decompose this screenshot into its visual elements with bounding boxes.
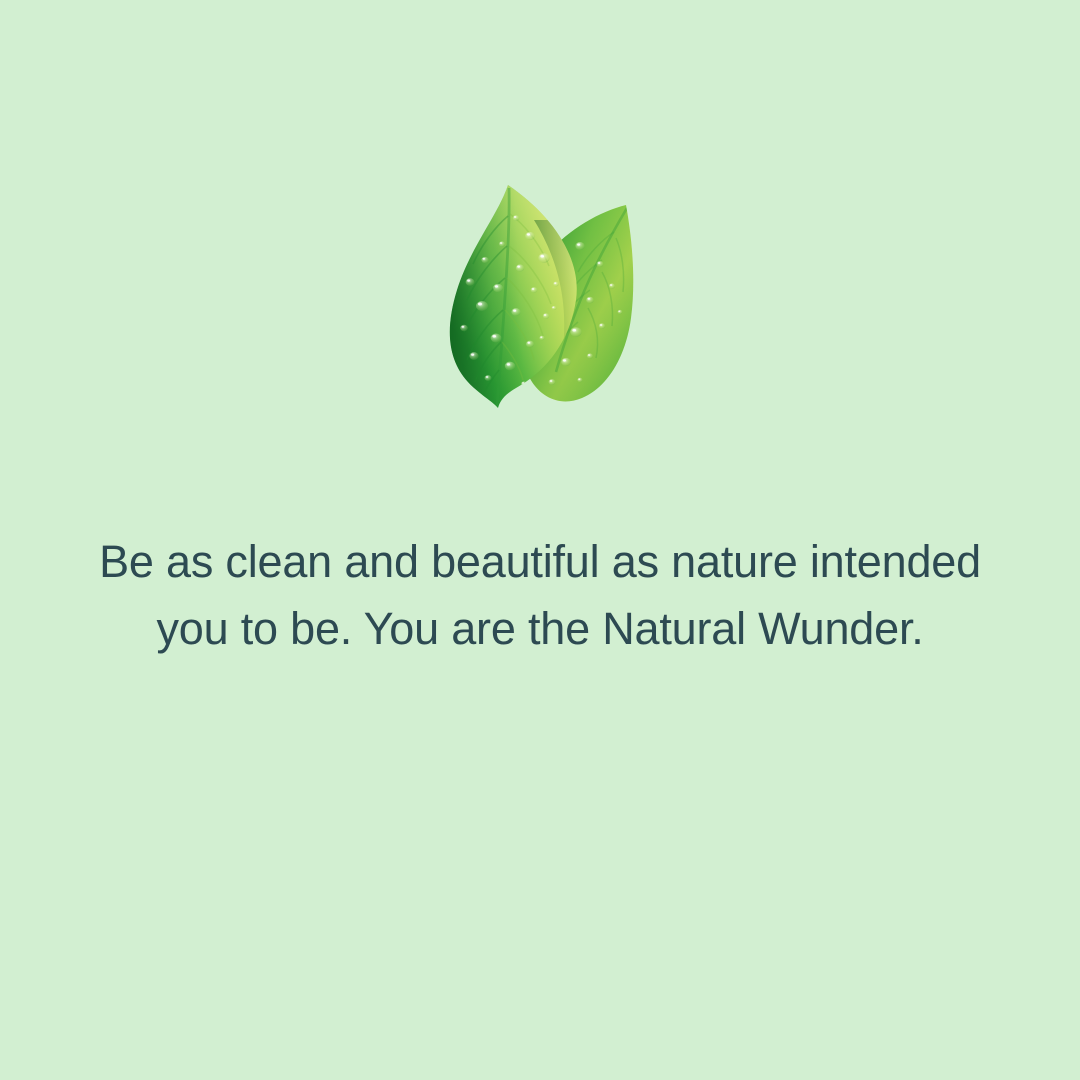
poster-canvas: Be as clean and beautiful as nature inte…: [0, 0, 1080, 1080]
quote-block: Be as clean and beautiful as nature inte…: [0, 528, 1080, 662]
quote-line-2: you to be. You are the Natural Wunder.: [0, 595, 1080, 662]
dewy-leaves-icon: [430, 160, 660, 420]
quote-line-1: Be as clean and beautiful as nature inte…: [0, 528, 1080, 595]
